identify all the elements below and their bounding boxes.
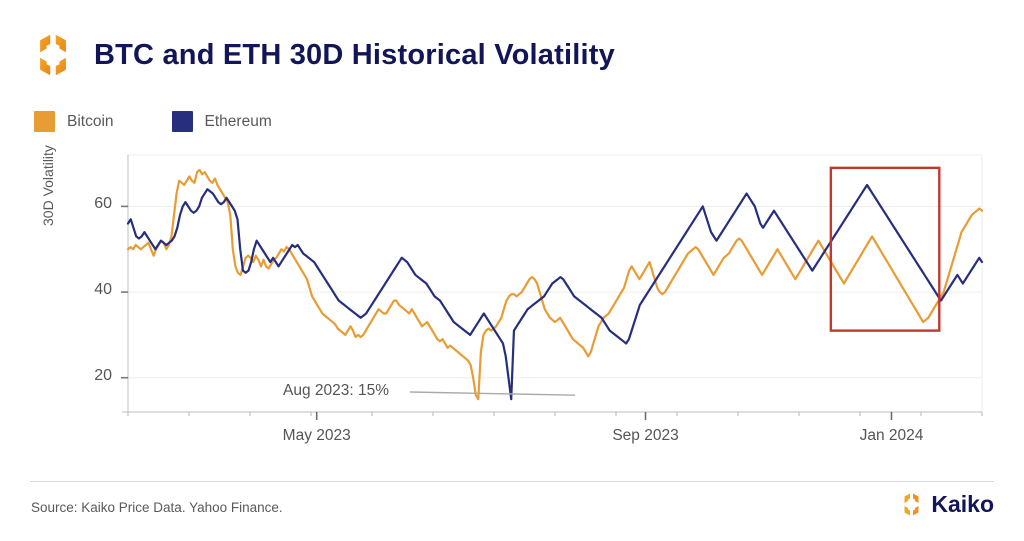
legend-swatch-icon <box>172 111 193 132</box>
chart-plot-area <box>0 0 1024 536</box>
legend-swatch-icon <box>34 111 55 132</box>
kaiko-logo-icon <box>30 32 76 78</box>
y-axis-tick-label: 20 <box>76 367 112 385</box>
footer-divider <box>30 481 994 482</box>
legend-item-ethereum[interactable]: Ethereum <box>172 111 272 132</box>
chart-legend: Bitcoin Ethereum <box>34 111 272 132</box>
page-title: BTC and ETH 30D Historical Volatility <box>94 41 615 70</box>
legend-item-bitcoin[interactable]: Bitcoin <box>34 111 114 132</box>
chart-page: BTC and ETH 30D Historical Volatility Bi… <box>0 0 1024 536</box>
x-axis-tick-label: May 2023 <box>247 427 387 445</box>
legend-label-ethereum: Ethereum <box>205 113 272 131</box>
y-axis-tick-label: 60 <box>76 195 112 213</box>
source-note: Source: Kaiko Price Data. Yahoo Finance. <box>31 500 283 515</box>
y-axis-title: 30D Volatility <box>40 145 56 226</box>
x-axis-tick-label: Sep 2023 <box>576 427 716 445</box>
chart-annotation-label: Aug 2023: 15% <box>283 382 389 400</box>
legend-label-bitcoin: Bitcoin <box>67 113 114 131</box>
x-axis-tick-label: Jan 2024 <box>821 427 961 445</box>
chart-header: BTC and ETH 30D Historical Volatility <box>30 32 615 78</box>
y-axis-tick-label: 40 <box>76 281 112 299</box>
footer-brand: Kaiko <box>899 492 994 517</box>
kaiko-logo-icon <box>899 492 924 517</box>
chart-svg <box>0 0 1024 536</box>
footer-wordmark: Kaiko <box>931 493 994 516</box>
